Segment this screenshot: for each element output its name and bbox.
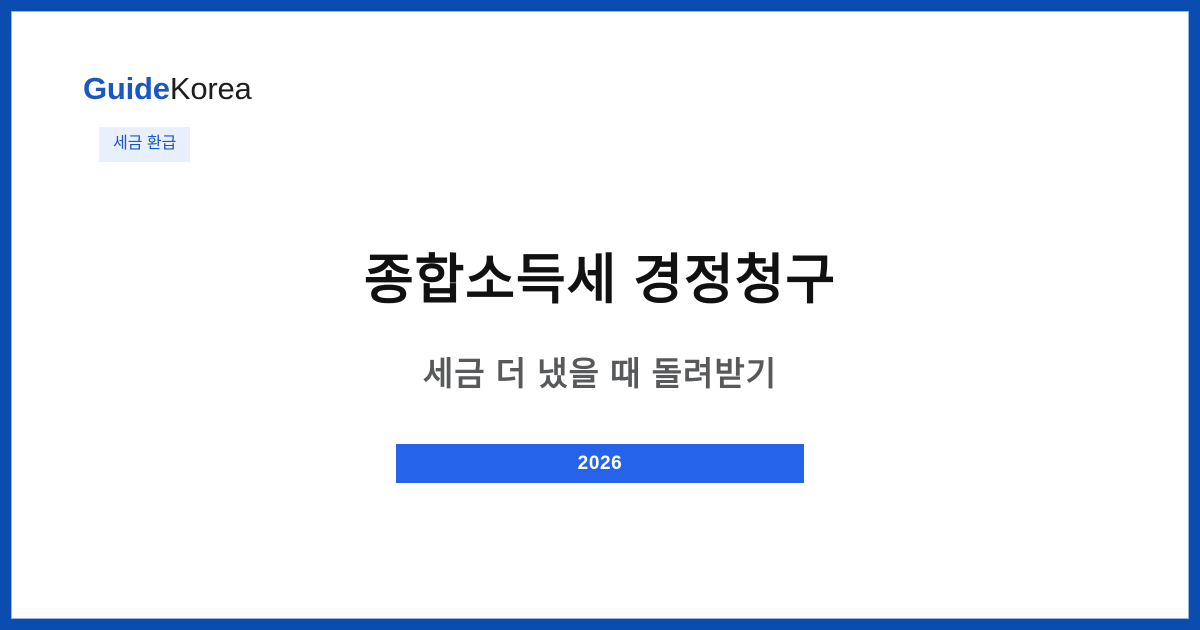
category-badge[interactable]: 세금 환급 [99,127,190,162]
page-title: 종합소득세 경정청구 [11,249,1189,313]
logo-primary-text: Guide [83,71,170,106]
card-canvas: GuideKorea 세금 환급 종합소득세 경정청구 세금 더 냈을 때 돌려… [11,11,1189,619]
site-logo[interactable]: GuideKorea [83,73,252,104]
year-bar-container: 2026 [11,393,1189,483]
year-badge: 2026 [396,444,804,483]
hero-section: 종합소득세 경정청구 세금 더 냈을 때 돌려받기 2026 [11,249,1189,483]
brand-block: GuideKorea 세금 환급 [83,73,252,162]
logo-secondary-text: Korea [170,71,252,106]
page-subtitle: 세금 더 냈을 때 돌려받기 [11,313,1189,394]
thumbnail-card: GuideKorea 세금 환급 종합소득세 경정청구 세금 더 냈을 때 돌려… [0,0,1200,630]
